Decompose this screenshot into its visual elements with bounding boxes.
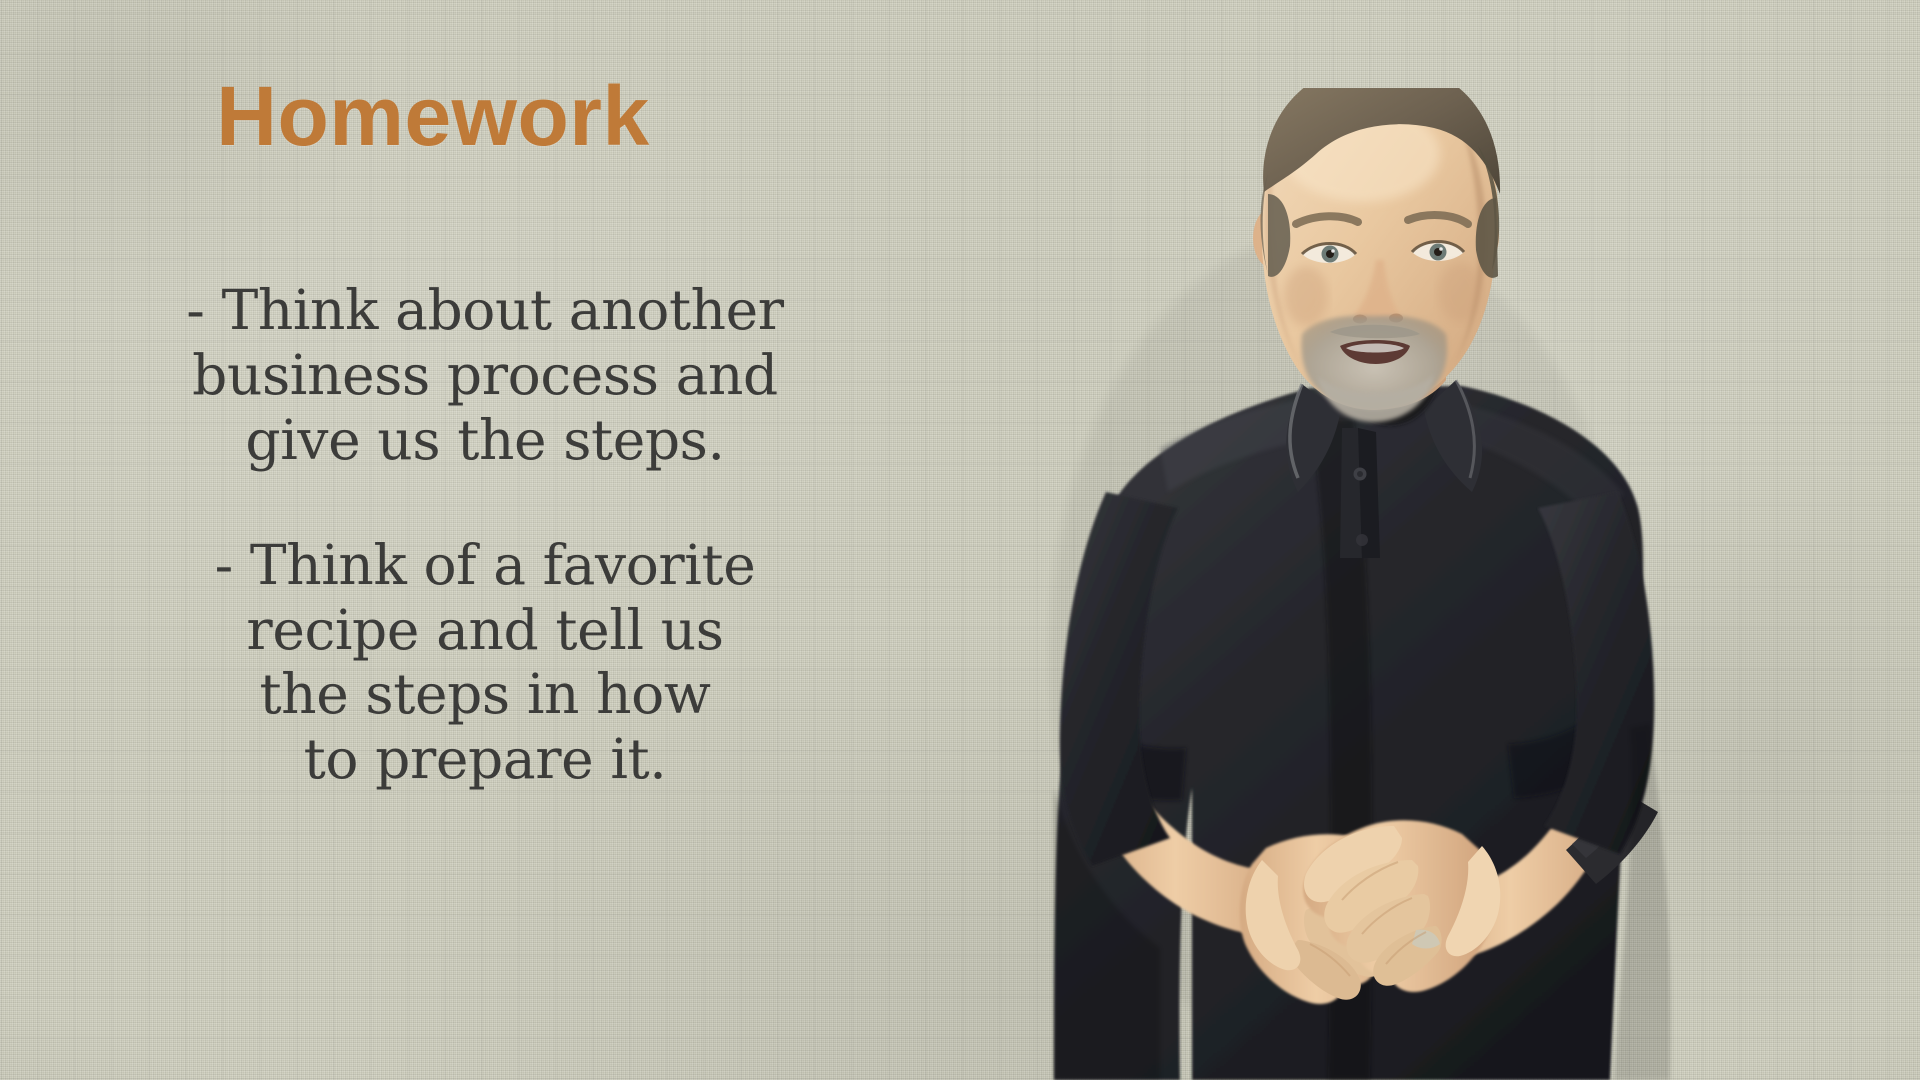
bullet-line: recipe and tell us bbox=[90, 598, 880, 663]
slide-frame: Homework - Think about another business … bbox=[0, 0, 1920, 1080]
bullet-line: give us the steps. bbox=[90, 408, 880, 473]
bullet-line: to prepare it. bbox=[90, 727, 880, 792]
list-item: - Think about another business process a… bbox=[90, 278, 880, 473]
bullet-line: - Think about another bbox=[90, 278, 880, 343]
bullet-list: - Think about another business process a… bbox=[90, 278, 880, 792]
bullet-line: business process and bbox=[90, 343, 880, 408]
page-title: Homework bbox=[0, 74, 866, 158]
list-item: - Think of a favorite recipe and tell us… bbox=[90, 533, 880, 793]
bullet-line: - Think of a favorite bbox=[90, 533, 880, 598]
bullet-line: the steps in how bbox=[90, 662, 880, 727]
